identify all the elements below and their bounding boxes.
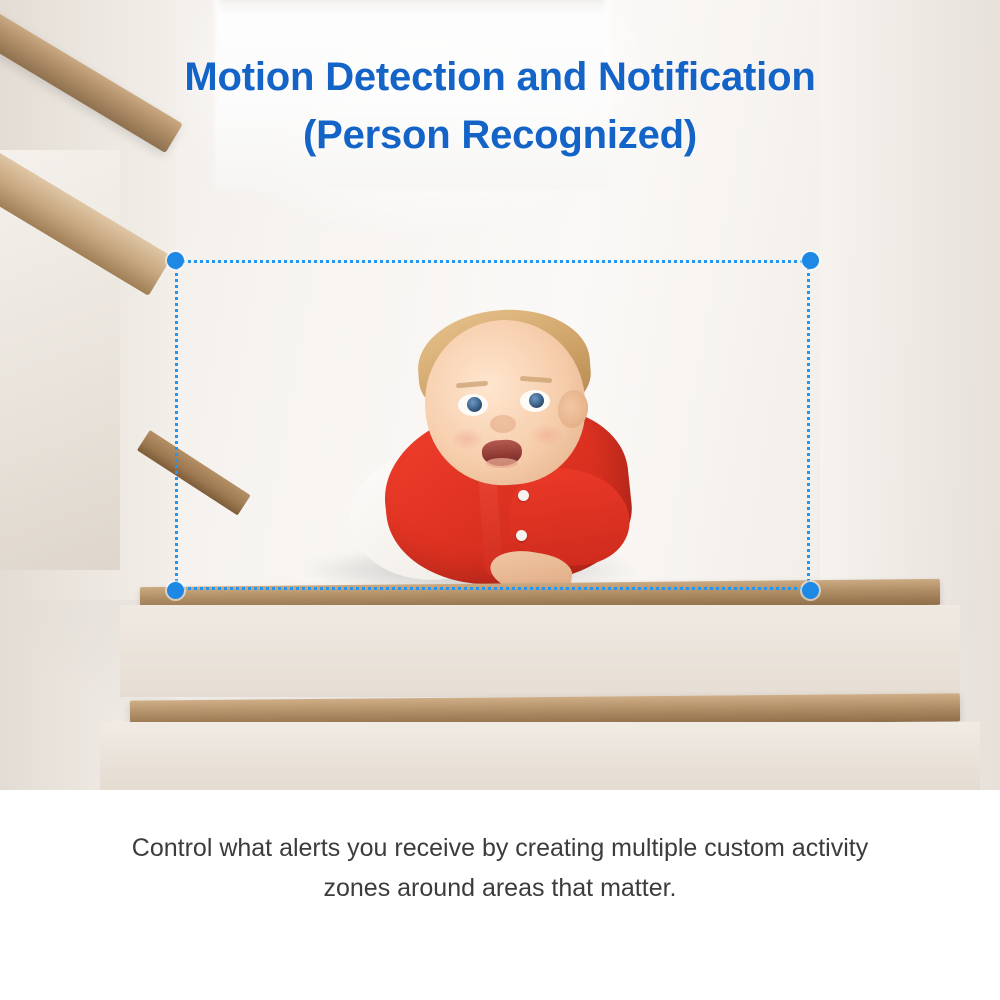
window-blind <box>220 0 605 10</box>
zone-handle-top-right[interactable] <box>802 252 819 269</box>
stair-riser-lower <box>100 722 980 790</box>
page-title: Motion Detection and Notification (Perso… <box>0 48 1000 164</box>
zone-handle-bottom-left[interactable] <box>167 582 184 599</box>
zone-handle-top-left[interactable] <box>167 252 184 269</box>
caption-text: Control what alerts you receive by creat… <box>120 828 880 908</box>
zone-handle-bottom-right[interactable] <box>802 582 819 599</box>
camera-photo: Motion Detection and Notification (Perso… <box>0 0 1000 790</box>
page-title-line-2: (Person Recognized) <box>0 106 1000 164</box>
caption-area: Control what alerts you receive by creat… <box>0 790 1000 1000</box>
promo-image: Motion Detection and Notification (Perso… <box>0 0 1000 1000</box>
page-title-line-1: Motion Detection and Notification <box>0 48 1000 106</box>
activity-zone-rectangle[interactable] <box>175 260 810 590</box>
stair-riser-upper <box>120 605 960 697</box>
